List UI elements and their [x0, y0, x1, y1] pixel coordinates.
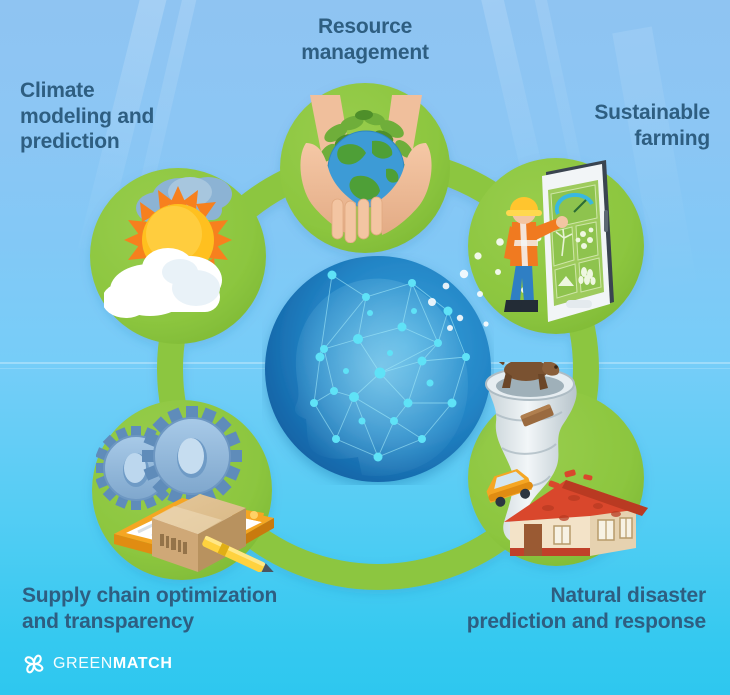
tornado-house-icon	[466, 362, 652, 558]
label-farming-line-2: farming	[490, 126, 710, 152]
label-supply-line-1: Supply chain optimization	[22, 583, 352, 609]
pinwheel-flower-icon	[22, 652, 46, 676]
label-supply-line-2: and transparency	[22, 609, 352, 635]
logo-text-match: MATCH	[113, 655, 173, 672]
greenmatch-logo[interactable]: GREENMATCH	[22, 652, 172, 676]
infographic-canvas: Climate modeling and prediction Resource…	[0, 0, 730, 695]
label-disaster-line-1: Natural disaster	[376, 583, 706, 609]
label-climate-modeling: Climate modeling and prediction	[20, 78, 220, 155]
farmer-smartphone-icon	[494, 160, 622, 332]
gears-package-clipboard-icon	[96, 406, 286, 572]
logo-text-green: GREEN	[53, 655, 113, 672]
label-climate-line-1: Climate	[20, 78, 220, 104]
hands-holding-earth-icon	[288, 95, 444, 243]
label-resource-line-2: management	[250, 40, 480, 66]
label-climate-line-3: prediction	[20, 129, 220, 155]
label-natural-disaster: Natural disaster prediction and response	[376, 583, 706, 634]
label-supply-chain: Supply chain optimization and transparen…	[22, 583, 352, 634]
label-resource-management: Resource management	[250, 14, 480, 65]
logo-wordmark: GREENMATCH	[53, 655, 172, 673]
label-disaster-line-2: prediction and response	[376, 609, 706, 635]
label-farming-line-1: Sustainable	[490, 100, 710, 126]
sun-clouds-icon	[104, 164, 272, 334]
label-sustainable-farming: Sustainable farming	[490, 100, 710, 151]
label-climate-line-2: modeling and	[20, 104, 220, 130]
label-resource-line-1: Resource	[250, 14, 480, 40]
